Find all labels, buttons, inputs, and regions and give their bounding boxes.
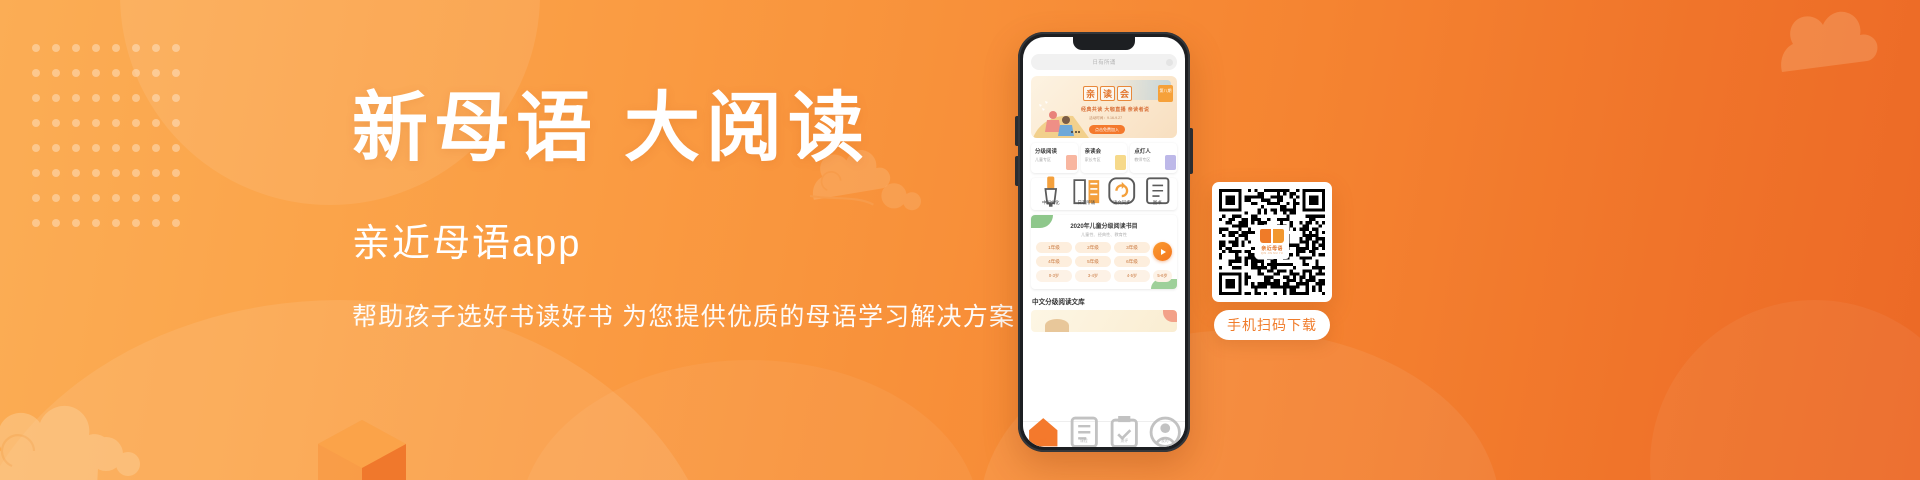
feature-card-icon [1165,155,1176,170]
hero-subtitle: 经典共读 大咖直播 亲读者说 [1081,106,1149,113]
promo-banner: 新母语大阅读 亲近母语app 帮助孩子选好书读好书 为您提供优质的母语学习解决方… [0,0,1920,480]
decorative-dot-grid [32,44,192,244]
feature-card-icon [1115,155,1126,170]
quick-icon-item[interactable]: 语文同步 [1104,183,1140,206]
headline-part-1: 新母语 [352,87,598,171]
book-icon [1140,183,1176,198]
booklist-title: 2020年儿童分级阅读书目 [1036,221,1172,230]
grade-chip[interactable]: 1年级 [1036,242,1072,253]
tab-home[interactable]: 首页 [1023,428,1064,444]
feature-card[interactable]: 亲读会家长专区 [1081,143,1128,173]
age-chip[interactable]: 0-3岁 [1036,270,1072,281]
hero-title-char: 亲 [1083,86,1098,101]
phone-screen: 日有所诵 亲读会 第八期 经典共读 大咖直播 亲读者说 [1023,37,1185,447]
feature-card-title: 点灯人 [1134,147,1174,155]
hero-badge: 第八期 [1158,85,1173,102]
feature-card-icon [1066,155,1077,170]
home-icon [1023,428,1064,438]
hero-cta-button[interactable]: 点击免费加入 [1089,125,1125,134]
hero-carousel-dots[interactable] [1071,131,1080,133]
hero-banner[interactable]: 亲读会 第八期 经典共读 大咖直播 亲读者说 活动时间：9.16-9.27 点击… [1031,76,1177,138]
auspicious-cloud-icon [0,362,182,480]
grade-chip[interactable]: 4年级 [1036,256,1072,267]
qr-code-card: 亲近母语 QIN JIN MU YU [1212,182,1332,302]
hero-title: 亲读会 [1083,86,1132,101]
grade-chip[interactable]: 3年级 [1114,242,1150,253]
feature-cards: 分级阅读儿童专区亲读会家长专区点灯人教师专区 [1031,143,1177,173]
grade-chip[interactable]: 6年级 [1114,256,1150,267]
age-chip[interactable]: 4-5岁 [1114,270,1150,281]
qr-logo-subtitle: QIN JIN MU YU [1261,252,1283,255]
age-chip[interactable]: 5-6岁 [1153,270,1172,281]
library-section-title: 中文分级阅读文库 [1031,296,1177,306]
app-name: 亲近母语app [352,212,992,267]
qr-code: 亲近母语 QIN JIN MU YU [1219,189,1325,295]
list-icon [1064,428,1105,438]
booklist-card[interactable]: 2020年儿童分级阅读书目 儿童性、经典性、教育性 1年级2年级3年级4年级5年… [1031,215,1177,289]
clipboard-icon [1104,428,1145,438]
age-chip[interactable]: 3-4岁 [1075,270,1111,281]
search-action-icon[interactable] [1166,59,1173,66]
library-card[interactable] [1031,310,1177,332]
search-input[interactable]: 日有所诵 [1031,54,1177,70]
booklist-subtitle: 儿童性、经典性、教育性 [1036,232,1172,238]
phone-mockup: 日有所诵 亲读会 第八期 经典共读 大咖直播 亲读者说 [1018,32,1190,452]
hero-title-char: 读 [1100,86,1115,101]
tab-user[interactable]: 我的 [1145,428,1186,444]
user-icon [1145,428,1186,438]
bottom-tab-bar: 首页课程测评我的 [1023,421,1185,447]
brush-icon [1033,183,1069,198]
qr-center-logo: 亲近母语 QIN JIN MU YU [1255,225,1289,259]
auspicious-cloud-icon [1778,8,1898,78]
quick-icon-item[interactable]: 中国文化 [1033,183,1069,206]
copy-block: 新母语大阅读 亲近母语app 帮助孩子选好书读好书 为您提供优质的母语学习解决方… [352,88,992,333]
sync-icon [1104,183,1140,198]
hero-illustration [1033,96,1089,138]
download-button[interactable]: 手机扫码下载 [1214,310,1330,340]
tab-list[interactable]: 课程 [1064,428,1105,444]
page-title: 新母语大阅读 [352,88,992,170]
phone-power-button [1190,128,1193,174]
hero-date: 活动时间：9.16-9.27 [1089,116,1122,121]
grade-chip-grid: 1年级2年级3年级4年级5年级6年级 0-3岁3-4岁4-5岁5-6岁 [1036,242,1172,282]
feature-card-title: 亲读会 [1085,147,1125,155]
grade-chip[interactable]: 5年级 [1075,256,1111,267]
play-icon [1161,249,1166,255]
feature-card-title: 分级阅读 [1035,147,1075,155]
download-button-label: 手机扫码下载 [1227,315,1317,335]
open-book-icon [1069,183,1105,198]
feature-card[interactable]: 分级阅读儿童专区 [1031,143,1078,173]
quick-icon-item[interactable]: 图书 [1140,183,1176,206]
headline-part-2: 大阅读 [624,87,870,171]
feature-card[interactable]: 点灯人教师专区 [1130,143,1177,173]
tab-clipboard[interactable]: 测评 [1104,428,1145,444]
phone-notch [1073,37,1135,50]
book-logo-icon [1260,229,1284,244]
quick-icon-row: 中国文化日有所诵语文同步图书 [1031,178,1177,210]
decorative-cube-icon [314,414,410,480]
hero-title-char: 会 [1117,86,1132,101]
decorative-circle-bottom-right [1650,300,1920,480]
play-button[interactable] [1153,242,1172,261]
search-placeholder: 日有所诵 [1092,58,1115,66]
quick-icon-item[interactable]: 日有所诵 [1069,183,1105,206]
grade-chip[interactable]: 2年级 [1075,242,1111,253]
tagline: 帮助孩子选好书读好书 为您提供优质的母语学习解决方案 [352,297,992,333]
